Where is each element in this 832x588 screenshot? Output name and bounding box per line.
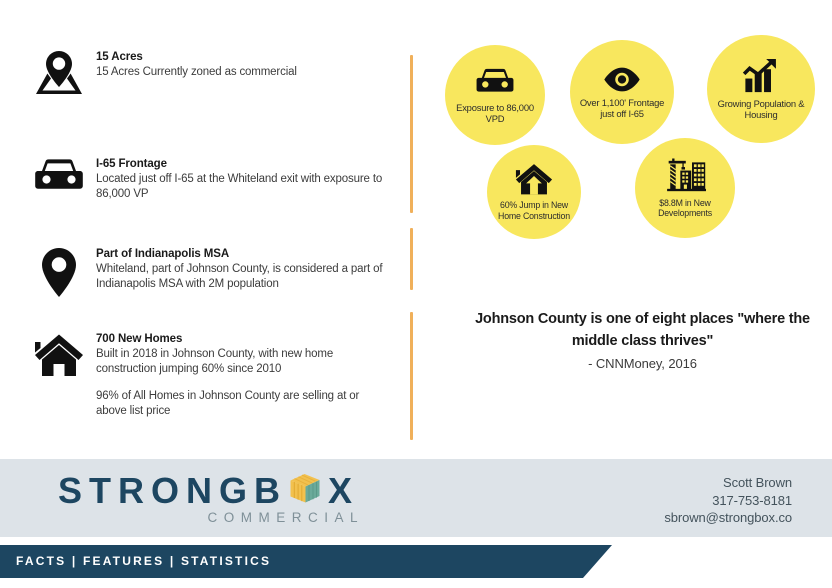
feature-title: I-65 Frontage [96, 157, 390, 171]
map-pin-location-icon [30, 48, 88, 104]
feature-description: Located just off I-65 at the Whiteland e… [96, 172, 390, 201]
growth-chart-icon [742, 58, 781, 94]
divider-3 [410, 312, 413, 440]
footer-brand-band: STRONGB X COMMERCIAL Scott Brown 317-75 [0, 459, 832, 537]
house-arrow-up-icon [515, 163, 553, 196]
car-icon [475, 67, 515, 98]
crane-buildings-icon [664, 158, 706, 194]
quote-text: Johnson County is one of eight places "w… [470, 308, 815, 352]
feature-text-block: 700 New Homes Built in 2018 in Johnson C… [88, 330, 390, 418]
feature-list: 15 Acres 15 Acres Currently zoned as com… [0, 40, 400, 450]
stat-badge-label: $8.8M in New Developments [635, 198, 735, 218]
feature-item-15-acres: 15 Acres 15 Acres Currently zoned as com… [30, 48, 390, 104]
box-3d-icon [288, 471, 322, 513]
quote-attribution: - CNNMoney, 2016 [470, 354, 815, 374]
feature-description: Whiteland, part of Johnson County, is co… [96, 262, 390, 291]
feature-title: 700 New Homes [96, 332, 390, 346]
contact-name: Scott Brown [664, 474, 792, 492]
divider-2 [410, 228, 413, 290]
feature-item-i65-frontage: I-65 Frontage Located just off I-65 at t… [30, 155, 390, 211]
feature-description: Built in 2018 in Johnson County, with ne… [96, 347, 390, 376]
contact-phone[interactable]: 317-753-8181 [664, 492, 792, 510]
feature-text-block: I-65 Frontage Located just off I-65 at t… [88, 155, 390, 201]
stat-badge-home-construction: 60% Jump in New Home Construction [487, 145, 581, 239]
strongbox-logo[interactable]: STRONGB X COMMERCIAL [58, 470, 368, 526]
stat-badge-group: Exposure to 86,000 VPD Over 1,100' Front… [430, 28, 830, 268]
stat-badge-label: Growing Population & Housing [707, 98, 815, 120]
feature-description: 15 Acres Currently zoned as commercial [96, 65, 297, 80]
stat-badge-developments: $8.8M in New Developments [635, 138, 735, 238]
contact-email[interactable]: sbrown@strongbox.co [664, 509, 792, 527]
stat-badge-label: Exposure to 86,000 VPD [445, 102, 545, 124]
logo-text-part2: X [328, 471, 359, 511]
car-icon [30, 155, 88, 211]
map-marker-icon [30, 245, 88, 301]
stat-badge-label: 60% Jump in New Home Construction [487, 200, 581, 220]
house-icon [30, 330, 88, 386]
feature-title: 15 Acres [96, 50, 297, 64]
feature-title: Part of Indianapolis MSA [96, 247, 390, 261]
feature-text-block: Part of Indianapolis MSA Whiteland, part… [88, 245, 390, 291]
feature-item-indianapolis-msa: Part of Indianapolis MSA Whiteland, part… [30, 245, 390, 301]
feature-description-secondary: 96% of All Homes in Johnson County are s… [96, 389, 390, 418]
logo-text-part1: STRONGB [58, 471, 287, 511]
feature-item-700-new-homes: 700 New Homes Built in 2018 in Johnson C… [30, 330, 390, 418]
feature-text-block: 15 Acres 15 Acres Currently zoned as com… [88, 48, 297, 80]
footer-ribbon: FACTS | FEATURES | STATISTICS [0, 545, 612, 578]
divider-1 [410, 55, 413, 213]
logo-wordmark: STRONGB X [58, 470, 368, 512]
stat-badge-growth: Growing Population & Housing [707, 35, 815, 143]
eye-icon [602, 66, 642, 93]
stat-badge-exposure: Exposure to 86,000 VPD [445, 45, 545, 145]
quote-block: Johnson County is one of eight places "w… [470, 308, 815, 374]
ribbon-label: FACTS | FEATURES | STATISTICS [16, 554, 271, 568]
contact-block: Scott Brown 317-753-8181 sbrown@strongbo… [664, 474, 792, 527]
stat-badge-frontage: Over 1,100' Frontage just off I-65 [570, 40, 674, 144]
stat-badge-label: Over 1,100' Frontage just off I-65 [570, 97, 674, 119]
